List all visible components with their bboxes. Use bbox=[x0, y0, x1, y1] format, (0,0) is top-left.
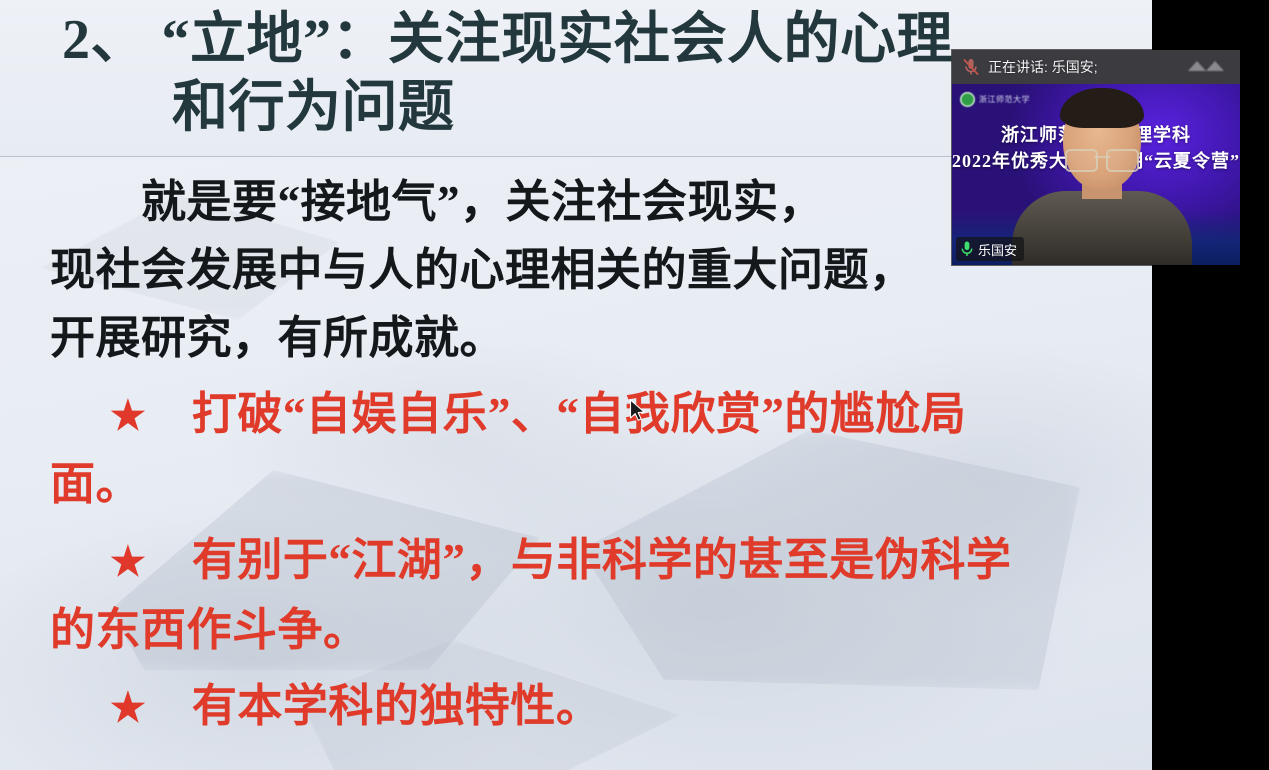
slide-title-line-2: 和行为问题 bbox=[172, 74, 455, 142]
video-pip-window[interactable]: 正在讲话: 乐国安; 浙江师范大学 浙江师范大学心理学科 2022年优秀大学生暑… bbox=[952, 50, 1240, 265]
red-star-icon: ★ bbox=[110, 393, 146, 438]
slide-bullet-continuation: 面。 bbox=[0, 450, 1152, 518]
double-chevron-collapse-icon[interactable] bbox=[1184, 57, 1230, 77]
presenter-torso bbox=[1012, 191, 1192, 265]
mic-active-icon bbox=[960, 240, 974, 258]
university-logo-text: 浙江师范大学 bbox=[979, 94, 1030, 105]
slide-bullet-text: 有别于“江湖”，与非科学的甚至是伪科学 bbox=[146, 535, 1011, 585]
participant-name-label: 乐国安 bbox=[978, 240, 1017, 259]
slide-bullet-item: ★ 有本学科的独特性。 bbox=[0, 672, 1152, 742]
active-speaker-label: 正在讲话: 乐国安; bbox=[988, 57, 1098, 77]
red-star-icon: ★ bbox=[110, 539, 146, 584]
spacer bbox=[0, 372, 1152, 380]
mouse-pointer-icon bbox=[629, 399, 646, 423]
screen-root: 2、 “立地”：关注现实社会人的心理 和行为问题 就是要“接地气”，关注社会现实… bbox=[0, 0, 1269, 770]
presenter-figure bbox=[1027, 84, 1177, 265]
presenter-glasses bbox=[1065, 149, 1139, 169]
slide-bullet-item: ★ 打破“自娱自乐”、“自我欣赏”的尴尬局 bbox=[0, 380, 1152, 450]
university-logo-mark bbox=[960, 92, 975, 107]
red-star-icon: ★ bbox=[110, 685, 146, 730]
participant-nameplate: 乐国安 bbox=[956, 237, 1024, 261]
slide-bullet-text: 有本学科的独特性。 bbox=[146, 681, 601, 731]
slide-paragraph: 开展研究，有所成就。 bbox=[0, 304, 1152, 372]
organization-logo: 浙江师范大学 bbox=[960, 92, 1030, 107]
slide-bullet-continuation: 的东西作斗争。 bbox=[0, 596, 1152, 664]
spacer bbox=[0, 518, 1152, 526]
mic-muted-icon bbox=[960, 56, 982, 78]
slide-bullet-item: ★ 有别于“江湖”，与非科学的甚至是伪科学 bbox=[0, 526, 1152, 596]
presenter-hair bbox=[1060, 88, 1144, 128]
video-feed[interactable]: 浙江师范大学 浙江师范大学心理学科 2022年优秀大学生暑期“云夏令营” bbox=[952, 84, 1240, 265]
spacer bbox=[0, 664, 1152, 672]
slide-title-line-1: 2、 “立地”：关注现实社会人的心理 bbox=[62, 6, 953, 74]
video-pip-titlebar[interactable]: 正在讲话: 乐国安; bbox=[952, 50, 1240, 84]
slide-bullet-text: 打破“自娱自乐”、“自我欣赏”的尴尬局 bbox=[146, 389, 966, 439]
